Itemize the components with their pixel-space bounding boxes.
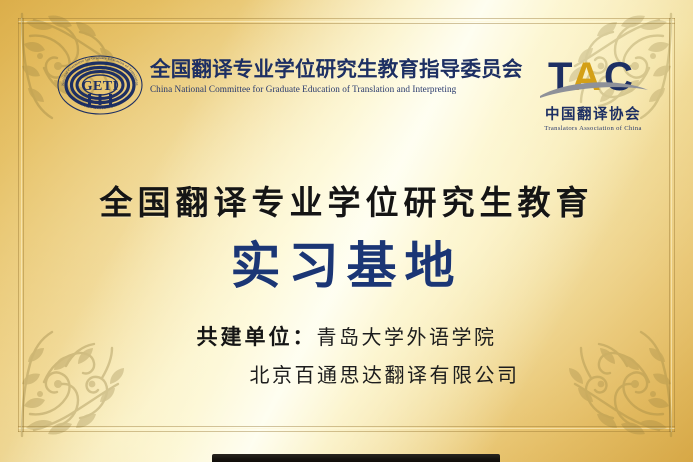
partner-line-secondary: 北京百通思达翻译有限公司 <box>0 362 693 391</box>
partners-label: 共建单位： <box>197 325 317 349</box>
committee-block: 全国翻译专业学位研究生教育指导委员会 China National Commit… <box>150 58 500 94</box>
geti-oval-logo-icon: GETI National Committee for Graduate Edu… <box>56 54 144 116</box>
frame-line-top-inner <box>18 21 675 22</box>
plaque-title: 全国翻译专业学位研究生教育 <box>0 176 693 224</box>
plaque-subtitle: 实习基地 <box>0 226 693 298</box>
svg-text:C: C <box>604 55 632 99</box>
svg-text:GETI: GETI <box>82 79 119 94</box>
plaque-header: GETI National Committee for Graduate Edu… <box>0 52 693 124</box>
partner-name: 北京百通思达翻译有限公司 <box>250 365 520 387</box>
frame-line-top-third <box>18 23 675 24</box>
frame-line-top-outer <box>18 18 675 19</box>
frame-line-bottom-third <box>18 426 675 427</box>
frame-line-bottom-inner <box>18 428 675 429</box>
frame-line-bottom-outer <box>18 431 675 432</box>
award-plaque: GETI National Committee for Graduate Edu… <box>0 0 693 462</box>
partner-name: 青岛大学外语学院 <box>317 327 497 349</box>
tac-name-en: Translators Association of China <box>528 125 658 132</box>
tac-logo-block: T A C 中国翻译协会 Translators Association of … <box>528 52 658 138</box>
tac-logo-icon: T A C <box>528 52 658 102</box>
partner-line-primary: 共建单位：青岛大学外语学院 <box>0 322 693 353</box>
svg-text:A: A <box>572 55 600 99</box>
tac-name-cn: 中国翻译协会 <box>528 103 658 124</box>
plaque-mount-bar <box>212 454 500 462</box>
partners-block: 共建单位：青岛大学外语学院 北京百通思达翻译有限公司 <box>0 322 693 391</box>
committee-name-en: China National Committee for Graduate Ed… <box>150 84 500 94</box>
committee-name-cn: 全国翻译专业学位研究生教育指导委员会 <box>150 58 500 82</box>
